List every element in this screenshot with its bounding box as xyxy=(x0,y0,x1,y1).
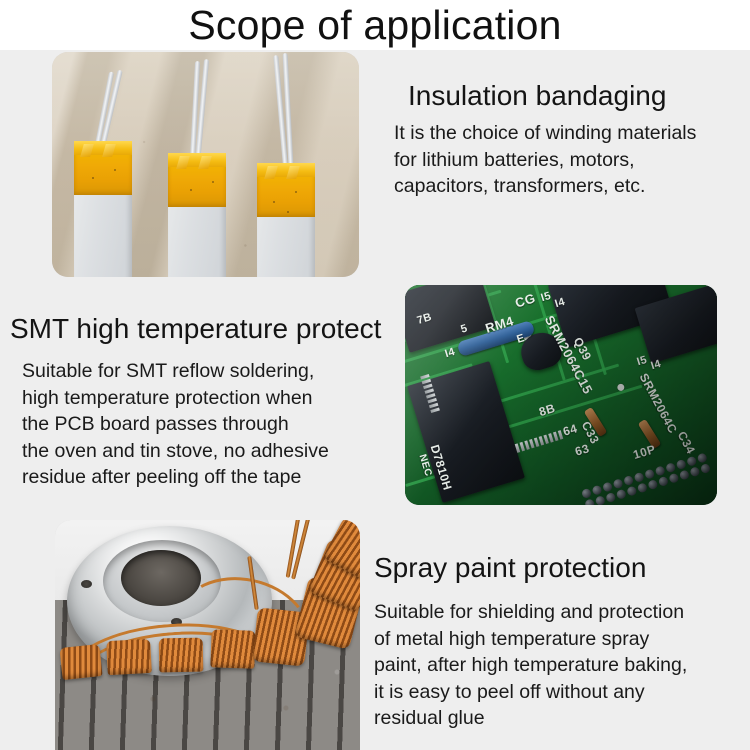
copper-coil xyxy=(210,629,255,669)
body-line: Suitable for SMT reflow soldering, xyxy=(22,358,329,385)
section-heading-spray-paint-protection: Spray paint protection xyxy=(374,552,646,584)
infographic-page: Scope of application xyxy=(0,0,750,750)
stator-hub-hole xyxy=(81,580,92,588)
body-line: paint, after high temperature baking, xyxy=(374,652,687,679)
body-line: It is the choice of winding materials xyxy=(394,120,696,147)
section-heading-insulation-bandaging: Insulation bandaging xyxy=(408,80,666,112)
copper-coil xyxy=(106,639,152,675)
body-line: of metal high temperature spray xyxy=(374,626,687,653)
body-line: residue after peeling off the tape xyxy=(22,464,329,491)
body-line: Suitable for shielding and protection xyxy=(374,599,687,626)
section-heading-smt-high-temperature-protect: SMT high temperature protect xyxy=(10,313,381,345)
section-body-smt-high-temperature-protect: Suitable for SMT reflow soldering, high … xyxy=(22,358,329,491)
cell-body xyxy=(74,191,132,277)
body-line: for lithium batteries, motors, xyxy=(394,147,696,174)
body-line: it is easy to peel off without any xyxy=(374,679,687,706)
section-body-spray-paint-protection: Suitable for shielding and protection of… xyxy=(374,599,687,732)
page-title: Scope of application xyxy=(0,2,750,50)
photo-motor-stator-with-copper-windings xyxy=(55,520,360,750)
body-line: high temperature protection when xyxy=(22,385,329,412)
copper-coil xyxy=(159,638,204,673)
body-line: capacitors, transformers, etc. xyxy=(394,173,696,200)
body-line: residual glue xyxy=(374,705,687,732)
copper-coil xyxy=(59,644,102,680)
body-line: the PCB board passes through xyxy=(22,411,329,438)
photo-green-pcb-circuit-board: 7B I4 5 RM4 E CG I5 I4 SRM2064C15 Q39 I5… xyxy=(405,285,717,505)
photo-battery-cells-with-yellow-kapton-tape xyxy=(52,52,359,277)
pcb-photo-lighting xyxy=(405,285,717,505)
section-body-insulation-bandaging: It is the choice of winding materials fo… xyxy=(394,120,696,200)
body-line: the oven and tin stove, no adhesive xyxy=(22,438,329,465)
